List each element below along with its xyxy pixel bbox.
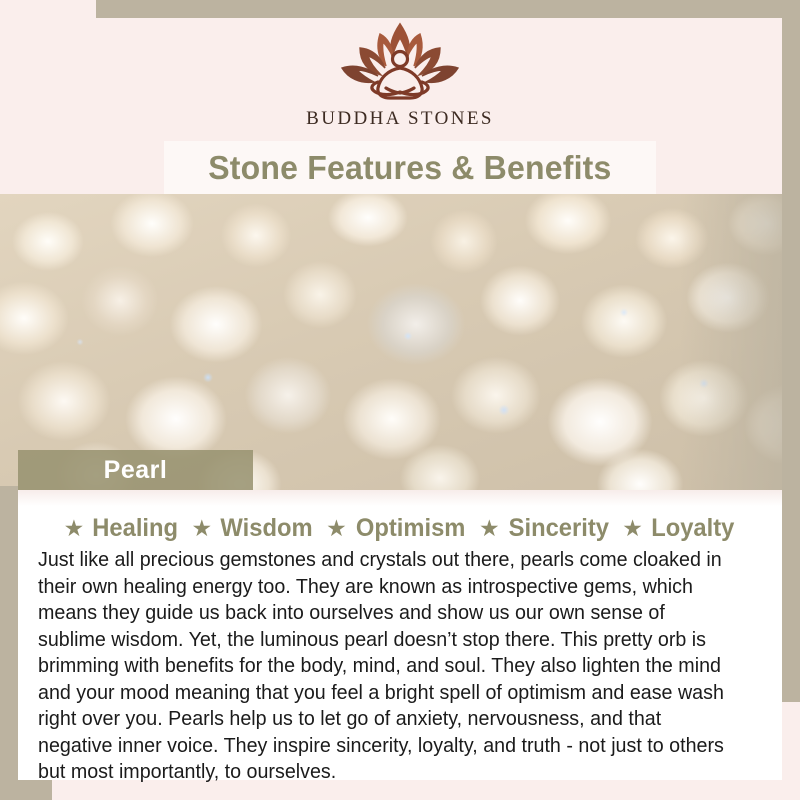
pearl-photo [0, 194, 800, 490]
brand-name: BUDDHA STONES [306, 108, 494, 130]
frame-right-border [782, 0, 800, 702]
title-banner: Stone Features & Benefits [164, 141, 656, 194]
star-icon: ★ [326, 517, 347, 540]
stone-description-text: Just like all precious gemstones and cry… [38, 547, 735, 786]
benefit-item: ★ Healing [64, 514, 181, 543]
benefit-label: Sincerity [508, 514, 608, 543]
frame-left-border [0, 486, 18, 800]
star-icon: ★ [64, 517, 85, 540]
benefit-item: ★ Wisdom [191, 514, 315, 543]
stone-benefits-poster: BUDDHA STONES Stone Features & Benefits … [0, 0, 800, 800]
benefit-item: ★ Sincerity [479, 514, 611, 543]
benefits-row: ★ Healing ★ Wisdom ★ Optimism ★ Sincerit… [18, 514, 782, 543]
star-icon: ★ [622, 517, 643, 540]
lotus-meditation-figure-icon [334, 18, 466, 104]
content-panel: ★ Healing ★ Wisdom ★ Optimism ★ Sincerit… [18, 490, 782, 780]
frame-top-border [96, 0, 800, 18]
panel-top-fade [18, 490, 782, 506]
benefit-label: Optimism [356, 514, 466, 543]
benefit-label: Healing [92, 514, 178, 543]
benefit-item: ★ Optimism [326, 514, 468, 543]
star-icon: ★ [479, 517, 500, 540]
stone-name-label: Pearl [104, 456, 168, 485]
brand-logo-block: BUDDHA STONES [0, 18, 800, 142]
benefit-label: Wisdom [221, 514, 313, 543]
stone-name-bar: Pearl [18, 450, 253, 490]
page-title: Stone Features & Benefits [208, 149, 611, 187]
benefit-item: ★ Loyalty [622, 514, 736, 543]
frame-bottom-border [0, 780, 52, 800]
star-icon: ★ [191, 517, 212, 540]
benefit-label: Loyalty [651, 514, 734, 543]
